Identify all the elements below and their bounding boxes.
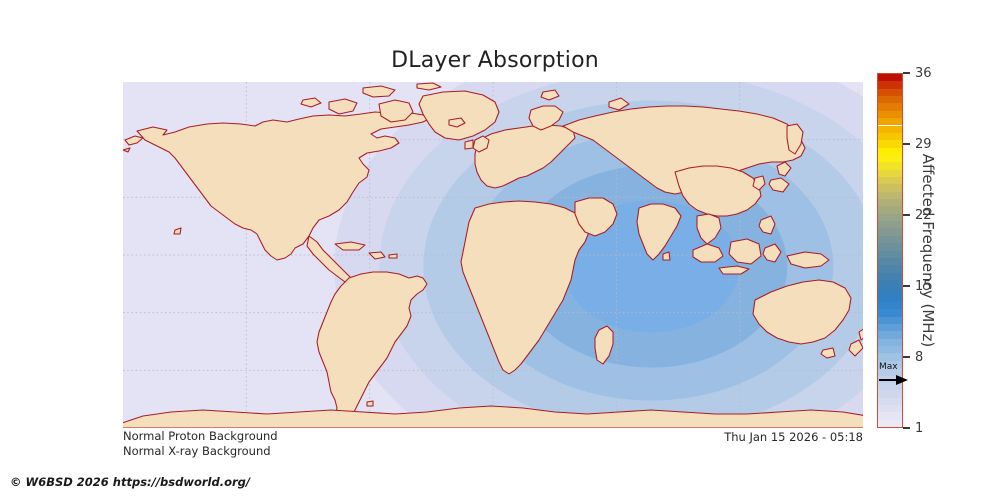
colorbar-step [878, 89, 902, 96]
colorbar-step [878, 302, 902, 309]
copyright-label: © W6BSD 2026 https://bsdworld.org/ [10, 475, 250, 489]
colorbar-step [878, 331, 902, 338]
colorbar-step [878, 111, 902, 118]
map-canvas[interactable] [123, 82, 863, 428]
colorbar-step [878, 273, 902, 280]
colorbar-step [878, 346, 902, 353]
colorbar-step [878, 133, 902, 140]
colorbar-step [878, 309, 902, 316]
world-map-svg [123, 82, 863, 428]
colorbar-step [878, 243, 902, 250]
tick-dash-icon [903, 427, 910, 429]
figure-root: DLayer Absorption [0, 0, 1000, 500]
tick-dash-icon [903, 143, 910, 145]
land-sri-lanka [663, 252, 670, 260]
tick-dash-icon [903, 356, 910, 358]
colorbar-step [878, 339, 902, 346]
timestamp-label: Thu Jan 15 2026 - 05:18 [724, 430, 863, 444]
colorbar-step [878, 353, 902, 360]
xray-background-note: Normal X-ray Background [123, 444, 278, 459]
tick-dash-icon [903, 72, 910, 74]
colorbar-step [878, 81, 902, 88]
colorbar-step [878, 206, 902, 213]
colorbar-step [878, 258, 902, 265]
colorbar-gradient [877, 73, 903, 428]
colorbar-step [878, 162, 902, 169]
colorbar-step [878, 140, 902, 147]
colorbar-step [878, 251, 902, 258]
colorbar-step [878, 192, 902, 199]
colorbar-step [878, 390, 902, 397]
land-falklands [367, 401, 373, 406]
colorbar-step [878, 287, 902, 294]
colorbar-step [878, 280, 902, 287]
colorbar-step [878, 236, 902, 243]
colorbar-step [878, 228, 902, 235]
colorbar-step [878, 324, 902, 331]
colorbar-step [878, 221, 902, 228]
colorbar-step [878, 155, 902, 162]
background-conditions: Normal Proton Background Normal X-ray Ba… [123, 429, 278, 459]
colorbar-step [878, 265, 902, 272]
colorbar-step [878, 405, 902, 412]
colorbar-step [878, 126, 902, 133]
colorbar-step [878, 383, 902, 390]
proton-background-note: Normal Proton Background [123, 429, 278, 444]
colorbar-step [878, 199, 902, 206]
colorbar-step [878, 214, 902, 221]
land-ireland [465, 140, 473, 149]
colorbar-step [878, 96, 902, 103]
colorbar-step [878, 295, 902, 302]
colorbar-step [878, 184, 902, 191]
colorbar-step [878, 420, 902, 427]
colorbar[interactable] [877, 73, 903, 428]
colorbar-step [878, 398, 902, 405]
page-title: DLayer Absorption [0, 48, 990, 73]
colorbar-step [878, 103, 902, 110]
colorbar-step [878, 148, 902, 155]
tick-dash-icon [903, 214, 910, 216]
colorbar-axis-label: Affected Frequency (MHz) [915, 73, 941, 428]
colorbar-step [878, 376, 902, 383]
colorbar-step [878, 361, 902, 368]
colorbar-step [878, 177, 902, 184]
tick-dash-icon [903, 285, 910, 287]
colorbar-step [878, 412, 902, 419]
colorbar-step [878, 170, 902, 177]
land-puerto-rico [389, 254, 397, 258]
colorbar-step [878, 368, 902, 375]
colorbar-step [878, 317, 902, 324]
colorbar-step [878, 118, 902, 125]
colorbar-step [878, 74, 902, 81]
